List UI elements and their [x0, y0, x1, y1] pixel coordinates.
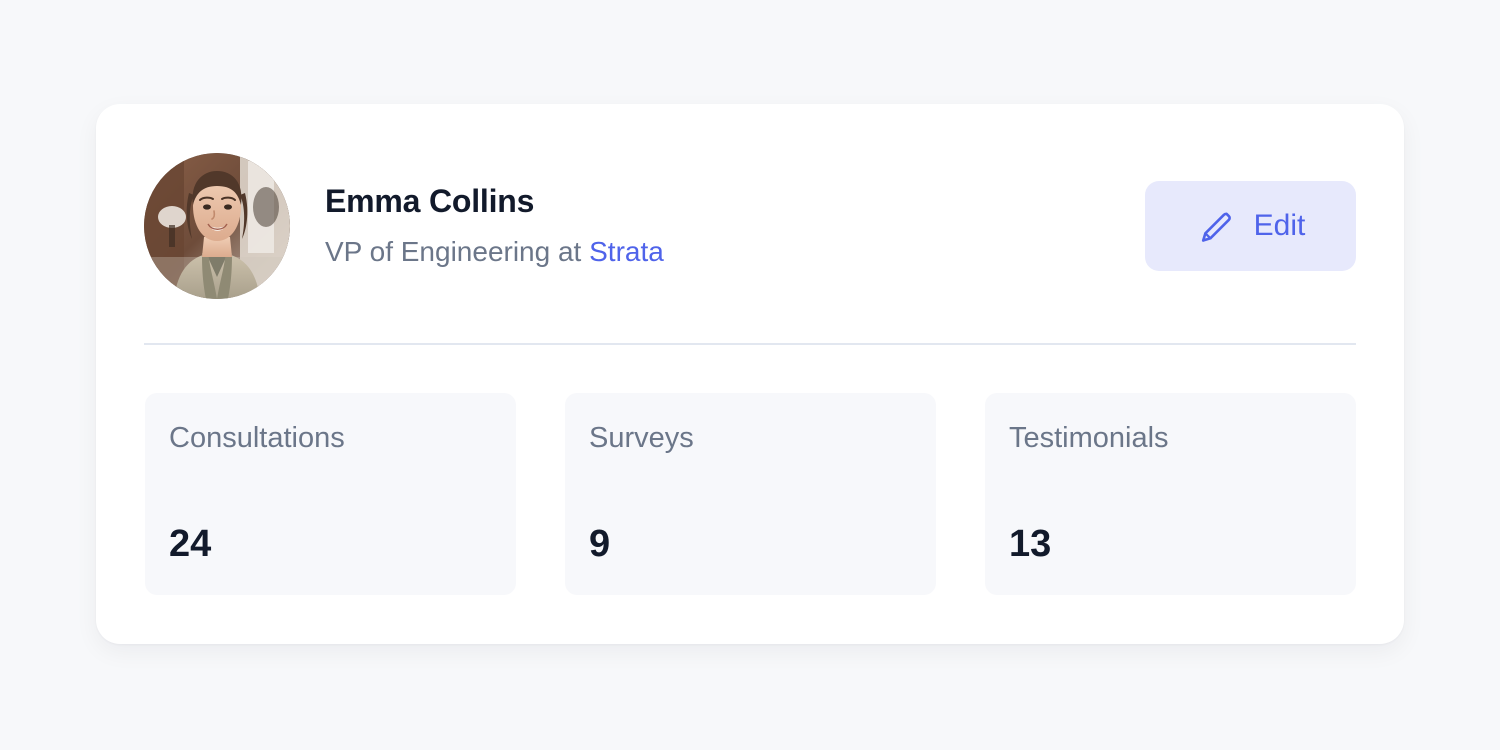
stat-value: 9: [589, 525, 610, 563]
company-link[interactable]: Strata: [589, 236, 664, 267]
edit-button[interactable]: Edit: [1145, 181, 1356, 271]
stat-label: Testimonials: [1009, 423, 1332, 455]
profile-header: Emma Collins VP of Engineering at Strata…: [144, 153, 1356, 299]
stat-card-surveys: Surveys 9: [565, 393, 936, 595]
identity-block: Emma Collins VP of Engineering at Strata: [325, 184, 664, 267]
person-name: Emma Collins: [325, 184, 664, 219]
stat-value: 24: [169, 525, 211, 563]
stat-value: 13: [1009, 525, 1051, 563]
stat-card-consultations: Consultations 24: [145, 393, 516, 595]
pencil-icon: [1196, 206, 1236, 246]
profile-card: Emma Collins VP of Engineering at Strata…: [96, 104, 1404, 644]
person-role-prefix: VP of Engineering at: [325, 236, 589, 267]
stat-label: Consultations: [169, 423, 492, 455]
avatar: [144, 153, 290, 299]
edit-button-label: Edit: [1254, 211, 1306, 241]
stat-card-testimonials: Testimonials 13: [985, 393, 1356, 595]
card-divider: [144, 343, 1356, 345]
person-role: VP of Engineering at Strata: [325, 236, 664, 268]
stats-row: Consultations 24 Surveys 9 Testimonials …: [145, 393, 1356, 595]
stat-label: Surveys: [589, 423, 912, 455]
